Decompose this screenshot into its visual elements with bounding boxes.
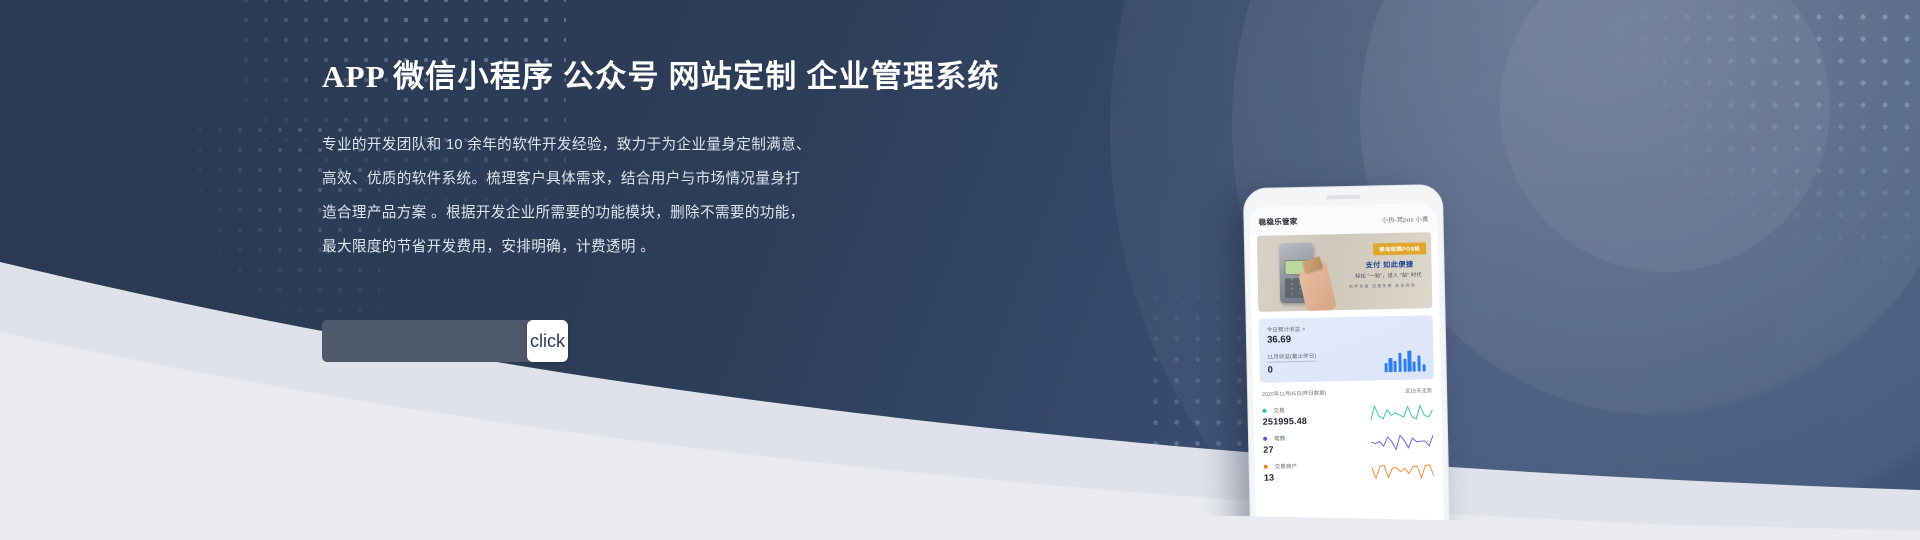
- promo-headline: 支付 如此便捷: [1365, 260, 1413, 271]
- description-line: 高效、优质的软件系统。梳理客户具体需求，结合用户与市场情况量身打: [322, 163, 942, 197]
- trend-row-name: 交易商户: [1264, 462, 1298, 471]
- promo-subline: 轻松 “一贴”，进入 “贴” 时代: [1355, 271, 1422, 279]
- app-title: 稳稳乐管家: [1258, 216, 1297, 228]
- trend-row[interactable]: 交易商户13: [1263, 454, 1434, 486]
- promo-banner[interactable]: 移动收银POS机 支付 如此便捷 轻松 “一贴”，进入 “贴” 时代 免押免租 …: [1257, 232, 1433, 312]
- phone-screen: 稳稳乐管家 小热-梵pos 小黄 移动收银POS机 支付 如此便捷 轻松 “一贴…: [1249, 203, 1445, 540]
- trend-row-text: 笔数27: [1263, 434, 1286, 454]
- page-title: APP 微信小程序 公众号 网站定制 企业管理系统: [322, 58, 1002, 95]
- app-user-label: 小热-梵pos 小黄: [1382, 214, 1429, 224]
- earnings-bar: [1398, 353, 1402, 372]
- trend-color-dot: [1264, 465, 1268, 469]
- trend-date-label: 2020年11月05日(昨日数据): [1262, 389, 1326, 397]
- hero-description: 专业的开发团队和 10 余年的软件开发经验，致力于为企业量身定制满意、 高效、优…: [322, 129, 942, 264]
- month-earnings-label: 11月收益(截止昨日): [1267, 352, 1316, 363]
- trend-color-dot: [1263, 437, 1267, 441]
- description-line: 造合理产品方案 。根据开发企业所需要的功能模块，删除不需要的功能，: [322, 197, 942, 231]
- sparkline: [1371, 430, 1433, 453]
- hero-copy: APP 微信小程序 公众号 网站定制 企业管理系统 专业的开发团队和 10 余年…: [322, 58, 1002, 265]
- phone-speaker: [1326, 195, 1360, 200]
- promo-tag: 移动收银POS机: [1373, 242, 1426, 255]
- trend-header: 2020年11月05日(昨日数据) 近15天走势: [1262, 387, 1432, 398]
- click-button[interactable]: click: [527, 320, 568, 362]
- sparkline: [1372, 458, 1434, 481]
- app-header: 稳稳乐管家 小热-梵pos 小黄: [1249, 203, 1438, 236]
- promo-footnote: 免押免租 流量免费 安全高效: [1349, 283, 1416, 290]
- trend-row-text: 交易商户13: [1264, 462, 1298, 483]
- earnings-bar: [1384, 363, 1387, 372]
- trend-row-name: 笔数: [1263, 434, 1285, 442]
- sparkline: [1370, 402, 1432, 425]
- trend-row[interactable]: 笔数27: [1263, 426, 1434, 458]
- trend-row[interactable]: 交易251995.48: [1262, 398, 1433, 430]
- trend-row-value: 13: [1264, 472, 1298, 483]
- search-input[interactable]: [322, 320, 531, 362]
- earnings-bar: [1413, 362, 1416, 372]
- earnings-bar: [1389, 358, 1392, 372]
- today-earnings-value: 36.69: [1267, 331, 1425, 345]
- earnings-bar: [1408, 351, 1412, 372]
- earnings-bar: [1403, 359, 1406, 372]
- hero-banner: APP 微信小程序 公众号 网站定制 企业管理系统 专业的开发团队和 10 余年…: [0, 0, 1920, 540]
- trend-row-name: 交易: [1262, 406, 1307, 415]
- trend-row-value: 27: [1263, 444, 1285, 454]
- trend-row-value: 251995.48: [1263, 416, 1308, 427]
- earnings-bar-chart: [1384, 347, 1426, 372]
- search-row: click: [322, 320, 568, 362]
- trend-range-label: 近15天走势: [1405, 387, 1432, 395]
- description-line: 专业的开发团队和 10 余年的软件开发经验，致力于为企业量身定制满意、: [322, 129, 942, 163]
- description-line: 最大限度的节省开发费用，安排明确，计费透明 。: [322, 231, 942, 265]
- trend-row-text: 交易251995.48: [1262, 406, 1307, 427]
- earnings-bar: [1417, 355, 1421, 371]
- phone-mockup: 稳稳乐管家 小热-梵pos 小黄 移动收银POS机 支付 如此便捷 轻松 “一贴…: [1243, 184, 1451, 540]
- trend-list: 交易251995.48笔数27交易商户13: [1253, 398, 1443, 486]
- trend-color-dot: [1262, 409, 1266, 413]
- earnings-card[interactable]: 今日预计收益 > 36.69 11月收益(截止昨日) 0: [1259, 315, 1434, 383]
- earnings-bar: [1394, 361, 1397, 372]
- earnings-bar: [1422, 364, 1425, 371]
